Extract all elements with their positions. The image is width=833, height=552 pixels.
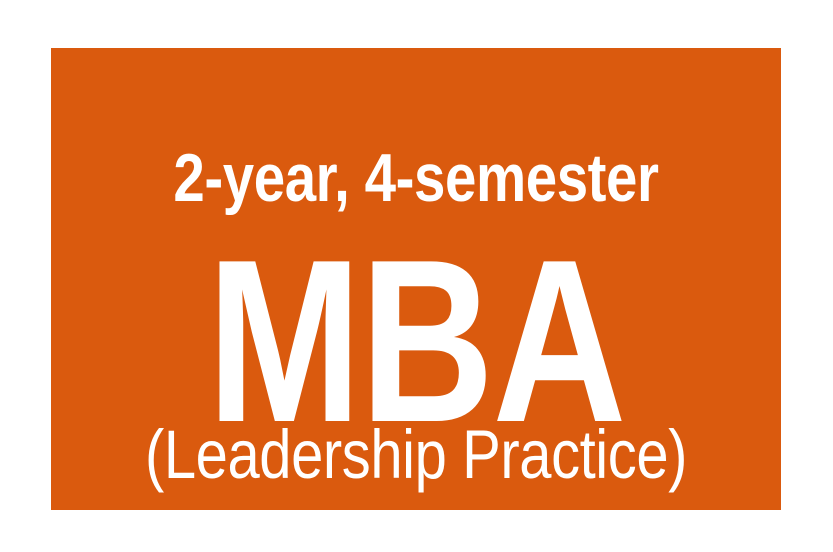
mba-program-badge: 2-year, 4-semester MBA (Leadership Pract… xyxy=(51,48,781,510)
program-duration-label: 2-year, 4-semester xyxy=(113,144,719,212)
program-track-label: (Leadership Practice) xyxy=(109,420,722,489)
promo-card-canvas: 2-year, 4-semester MBA (Leadership Pract… xyxy=(0,0,833,552)
